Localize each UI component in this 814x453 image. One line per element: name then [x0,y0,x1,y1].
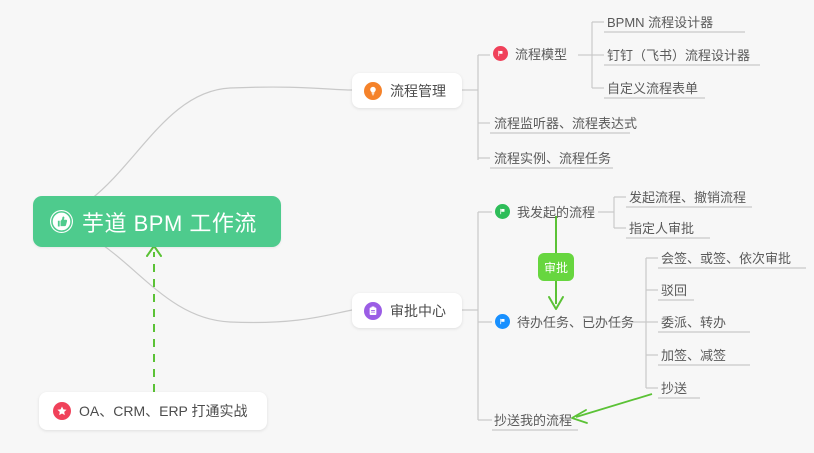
branch-label: 审批中心 [390,301,446,321]
flag-icon [495,204,510,219]
cc-link-arrow [572,394,652,423]
leaf-my-initiated-process[interactable]: 我发起的流程 [495,202,595,224]
leaf-cc-to-me[interactable]: 抄送我的流程 [494,410,572,432]
leaf-assigned-approval[interactable]: 指定人审批 [629,218,694,240]
leaf-add-remove-sign[interactable]: 加签、减签 [661,345,726,367]
thumbs-up-icon [50,210,73,233]
root-label: 芋道 BPM 工作流 [82,206,257,238]
clipboard-icon [364,302,382,320]
branch-node-approval-center[interactable]: 审批中心 [352,293,462,328]
leaf-label: 加签、减签 [661,345,726,364]
leaf-bpmn-designer[interactable]: BPMN 流程设计器 [607,12,713,34]
flag-icon [493,46,508,61]
leaf-label: 抄送我的流程 [494,410,572,429]
leaf-process-instance[interactable]: 流程实例、流程任务 [494,148,611,170]
leaf-custom-process-form[interactable]: 自定义流程表单 [607,78,698,100]
branch-label: 流程管理 [390,81,446,101]
mindmap-canvas: 芋道 BPM 工作流 OA、CRM、ERP 打通实战 流程管理 [0,0,814,453]
leaf-label: 委派、转办 [661,312,726,331]
leaf-countersign-modes[interactable]: 会签、或签、依次审批 [661,248,791,270]
lightbulb-icon [364,82,382,100]
leaf-process-model[interactable]: 流程模型 [493,44,567,66]
leaf-label: 自定义流程表单 [607,78,698,97]
leaf-process-listener[interactable]: 流程监听器、流程表达式 [494,113,637,135]
leaf-label: BPMN 流程设计器 [607,12,713,31]
approval-tag-label: 审批 [544,259,568,276]
dashed-arrow-to-root [147,246,161,392]
corner-node-label: OA、CRM、ERP 打通实战 [79,401,248,421]
leaf-carbon-copy[interactable]: 抄送 [661,378,687,400]
leaf-label: 流程监听器、流程表达式 [494,113,637,132]
root-node[interactable]: 芋道 BPM 工作流 [33,196,281,247]
leaf-label: 会签、或签、依次审批 [661,248,791,267]
corner-node-integration[interactable]: OA、CRM、ERP 打通实战 [39,392,267,430]
leaf-label: 流程模型 [515,44,567,63]
leaf-label: 钉钉（飞书）流程设计器 [607,45,750,64]
leaf-label: 发起流程、撤销流程 [629,187,746,206]
leaf-label: 驳回 [661,280,687,299]
leaf-label: 指定人审批 [629,218,694,237]
approval-tag[interactable]: 审批 [538,253,574,281]
leaf-label: 流程实例、流程任务 [494,148,611,167]
star-icon [53,402,71,420]
leaf-label: 抄送 [661,378,687,397]
leaf-delegate-transfer[interactable]: 委派、转办 [661,312,726,334]
leaf-initiate-cancel-process[interactable]: 发起流程、撤销流程 [629,187,746,209]
branch-node-process-management[interactable]: 流程管理 [352,73,462,108]
leaf-reject[interactable]: 驳回 [661,280,687,302]
flag-icon [495,314,510,329]
leaf-dingtalk-feishu-designer[interactable]: 钉钉（飞书）流程设计器 [607,45,750,67]
leaf-label: 我发起的流程 [517,202,595,221]
leaf-label: 待办任务、已办任务 [517,312,634,331]
leaf-todo-done-tasks[interactable]: 待办任务、已办任务 [495,312,634,334]
